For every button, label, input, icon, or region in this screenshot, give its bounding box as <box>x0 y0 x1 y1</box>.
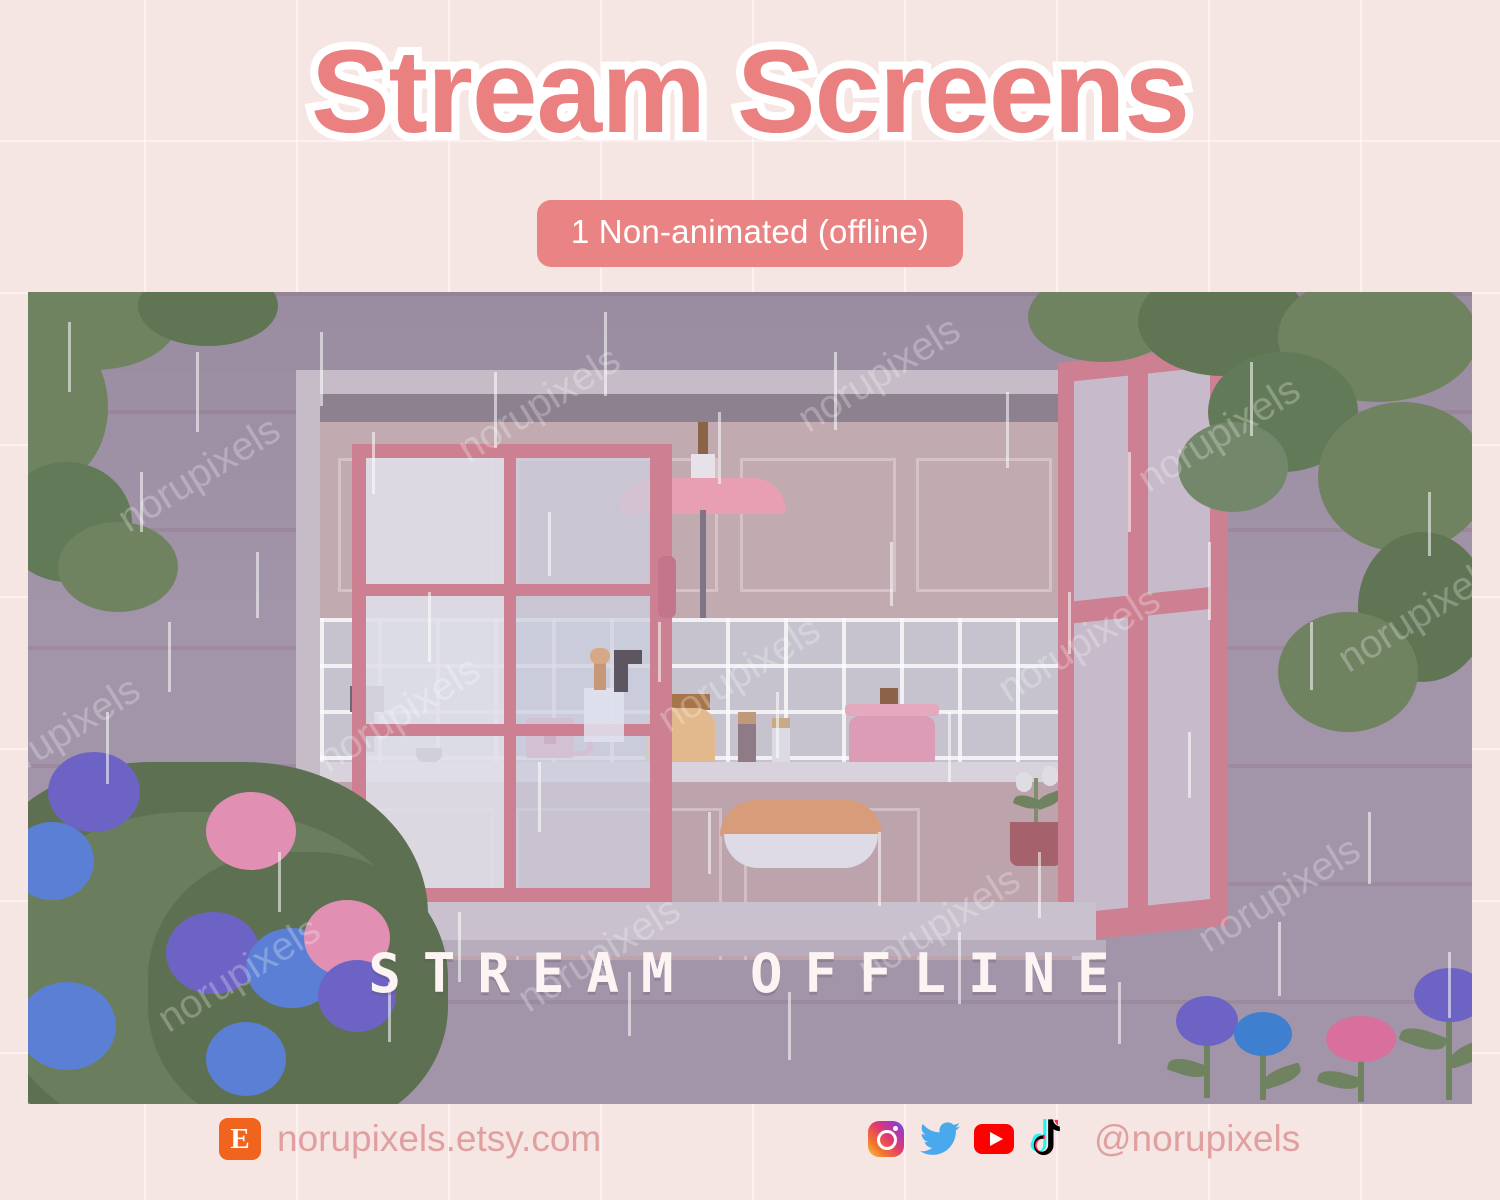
page-title: Stream Screens <box>0 24 1500 161</box>
tiktok-icon[interactable] <box>1028 1119 1068 1159</box>
garden-flower-pink <box>1326 1016 1396 1062</box>
plant-flower <box>1042 766 1058 786</box>
footer: E norupixels.etsy.com @norupixels <box>0 1112 1500 1190</box>
twitter-icon[interactable] <box>920 1119 960 1159</box>
utensil-dark-icon <box>614 650 642 664</box>
social-links: @norupixels <box>866 1118 1300 1160</box>
etsy-shop-link[interactable]: E norupixels.etsy.com <box>219 1118 601 1160</box>
pot-knob <box>880 688 898 704</box>
window-mullion-v <box>504 444 516 902</box>
pot-lid <box>845 704 939 716</box>
instagram-icon[interactable] <box>866 1119 906 1159</box>
spice-bottle-lid <box>772 718 790 728</box>
lamp-cord <box>698 422 708 458</box>
window-sash-left <box>650 444 672 902</box>
utensil-holder <box>584 688 624 742</box>
garden-flower-blue <box>1234 1012 1292 1056</box>
wooden-spoon-head <box>590 648 610 664</box>
window-mullion-h <box>352 584 672 596</box>
lamp-rod <box>700 510 706 618</box>
pie-icon <box>720 800 882 836</box>
spice-bottle-lid <box>738 712 756 724</box>
leaf-cluster <box>1278 612 1418 732</box>
pie-dish <box>724 834 878 868</box>
plant-flower <box>1016 772 1032 792</box>
hydrangea-bloom <box>206 1022 286 1096</box>
open-pane-glass <box>1074 618 1128 914</box>
status-badge: 1 Non-animated (offline) <box>537 200 963 267</box>
plant-pot-icon <box>1010 822 1062 866</box>
hydrangea-bloom <box>48 752 140 832</box>
etsy-shop-url: norupixels.etsy.com <box>277 1118 601 1160</box>
leaf-cluster <box>58 522 178 612</box>
hydrangea-bloom <box>206 792 296 870</box>
badge-row: 1 Non-animated (offline) <box>0 200 1500 267</box>
leaf-cluster <box>1178 422 1288 512</box>
stream-offline-text: STREAM OFFLINE <box>28 942 1472 1005</box>
cabinet-panel <box>740 458 896 592</box>
youtube-icon[interactable] <box>974 1119 1014 1159</box>
open-pane-glass <box>1148 609 1210 906</box>
artwork-preview: STREAM OFFLINE norupixels norupixels nor… <box>28 292 1472 1104</box>
window-lintel <box>320 394 1072 422</box>
window-mullion-h <box>352 724 672 736</box>
lamp-neck <box>691 454 715 480</box>
window-handle[interactable] <box>658 556 676 618</box>
etsy-icon: E <box>219 1118 261 1160</box>
social-handle: @norupixels <box>1094 1118 1300 1160</box>
pink-pot-icon <box>849 716 935 768</box>
